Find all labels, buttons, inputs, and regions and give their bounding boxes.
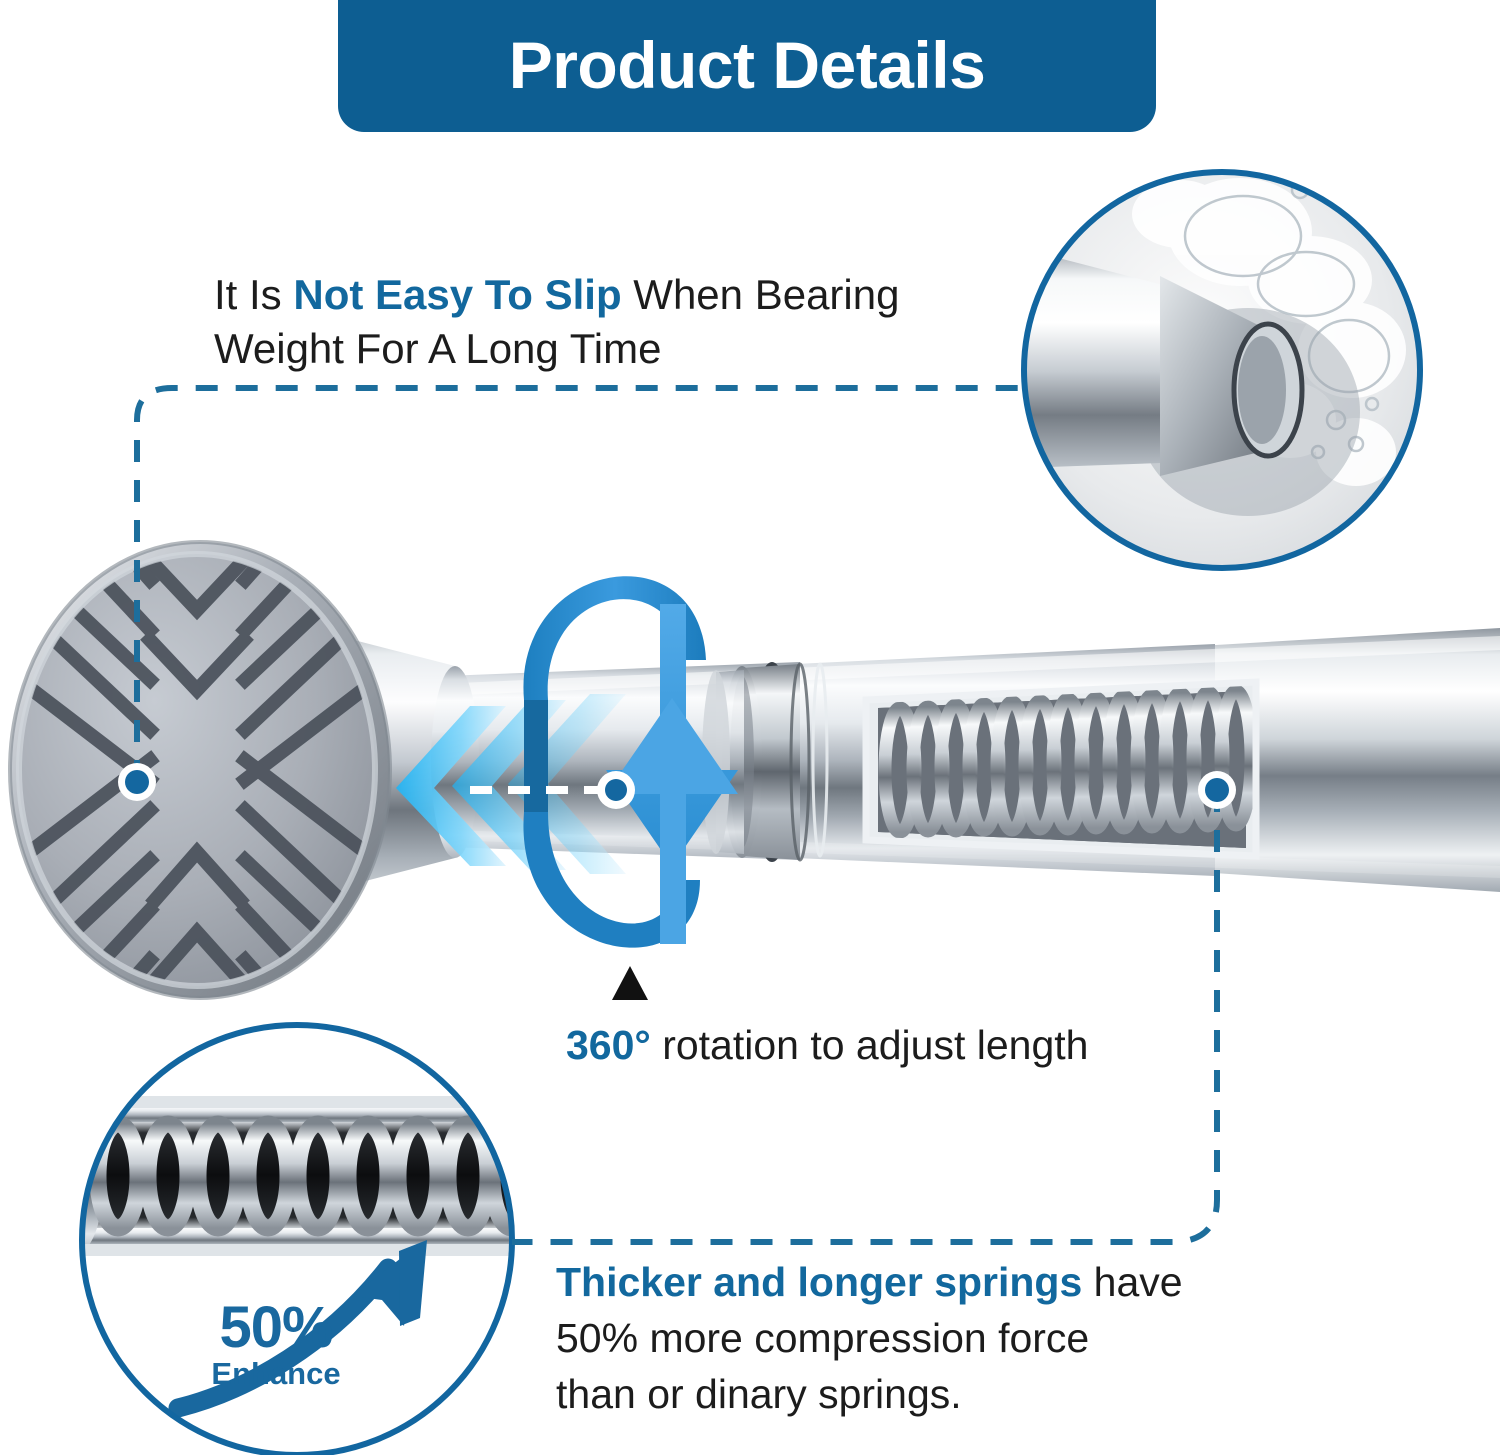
callout-spring-line3: than or dinary springs. [556, 1371, 962, 1417]
callout-markers [0, 0, 1500, 1455]
callout-slip-text: It Is Not Easy To Slip When Bearing Weig… [214, 268, 1014, 376]
callout-slip-lead: It Is [214, 271, 293, 318]
enhance-badge-label: Enhance [196, 1357, 356, 1391]
marker-rotation-joint[interactable] [597, 771, 635, 809]
marker-end-cap[interactable] [118, 763, 156, 801]
callout-spring-line1-tail: have [1082, 1259, 1182, 1305]
marker-internal-spring[interactable] [1198, 771, 1236, 809]
enhance-badge: 50% Enhance [196, 1300, 356, 1391]
callout-rotation-tail: rotation to adjust length [651, 1022, 1089, 1068]
enhance-badge-percent: 50% [196, 1300, 356, 1355]
callout-spring-text: Thicker and longer springs have 50% more… [556, 1255, 1256, 1422]
callout-rotation-text: 360° rotation to adjust length [566, 1022, 1206, 1069]
callout-spring-accent: Thicker and longer springs [556, 1259, 1082, 1305]
page-title: Product Details [509, 32, 986, 98]
page-header-banner: Product Details [338, 0, 1156, 132]
callout-spring-line2: 50% more compression force [556, 1315, 1089, 1361]
callout-rotation-accent: 360° [566, 1022, 651, 1068]
callout-slip-accent: Not Easy To Slip [293, 271, 621, 318]
